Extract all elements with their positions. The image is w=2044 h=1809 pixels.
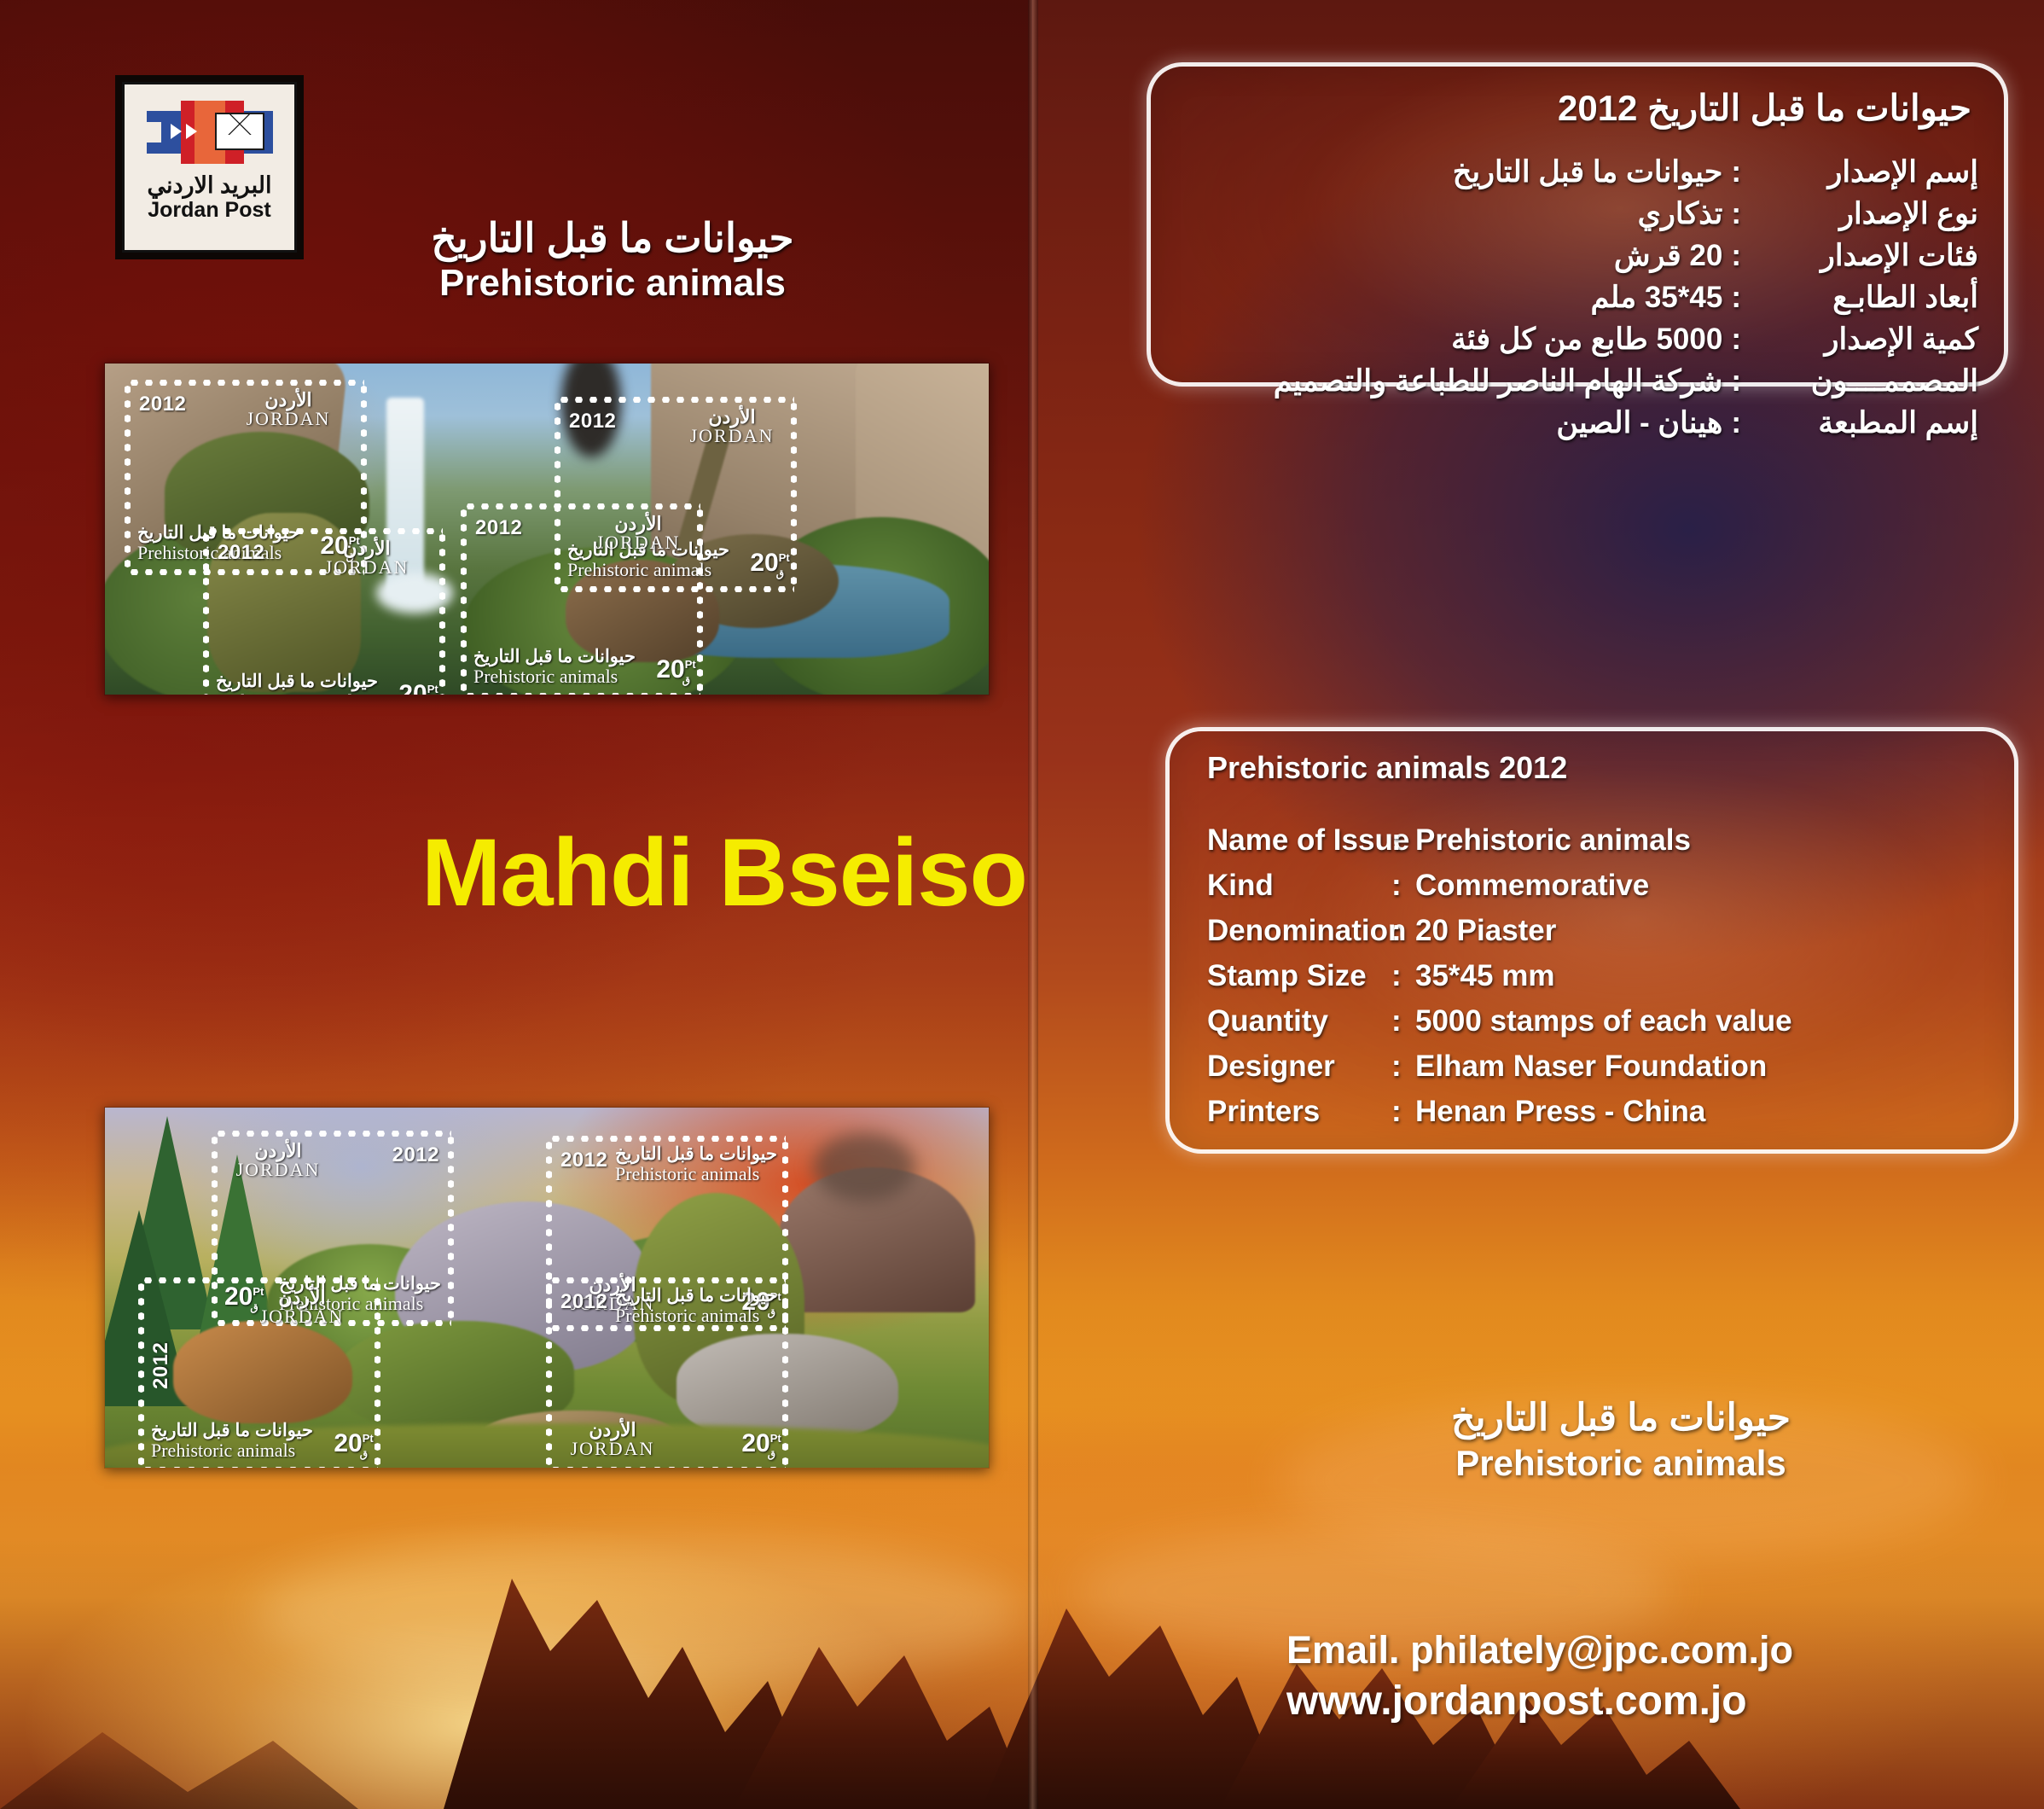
- stamp-caption-arabic: حيوانات ما قبل التاريخ: [216, 672, 378, 691]
- row-value: حيوانات ما قبل التاريخ: [1453, 155, 1723, 189]
- brochure-page: البريد الاردني Jordan Post حيوانات ما قب…: [0, 0, 2044, 1809]
- stamp-country-arabic: الأردن: [247, 1288, 357, 1307]
- info-row: أبعاد الطابـع : 45*35 ملم: [1274, 281, 1978, 315]
- stamp-year: 2012: [149, 1342, 173, 1389]
- row-value: 20 قرش: [1614, 239, 1722, 273]
- row-separator: :: [1391, 1050, 1415, 1084]
- row-value: تذكاري: [1638, 197, 1723, 231]
- stamp-caption: حيوانات ما قبل التاريخ Prehistoric anima…: [151, 1422, 313, 1460]
- denomination-unit-arabic: ق: [682, 674, 690, 686]
- arabic-info-panel: حيوانات ما قبل التاريخ 2012 إسم الإصدار …: [1147, 62, 2008, 387]
- row-value: هينان - الصين: [1556, 406, 1722, 440]
- row-key: Quantity: [1207, 1004, 1391, 1038]
- row-key: Name of Issue: [1207, 823, 1391, 858]
- stamp-year: 2012: [560, 1290, 607, 1314]
- stamp-country-arabic: الأردن: [233, 391, 344, 410]
- info-row: Kind : Commemorative: [1207, 869, 1792, 903]
- contact-info: Email. philately@jpc.com.jo www.jordanpo…: [1286, 1626, 1793, 1727]
- stamp-country-english: JORDAN: [247, 1307, 357, 1326]
- stamp-denomination: 20Ptق: [750, 549, 784, 579]
- row-key: كمية الإصدار: [1750, 323, 1978, 357]
- row-key: Printers: [1207, 1095, 1391, 1129]
- stamp-country: الأردن JORDAN: [311, 539, 422, 577]
- row-key: Stamp Size: [1207, 959, 1391, 993]
- denomination-unit: Pt: [363, 1432, 374, 1445]
- stamp-country: الأردن JORDAN: [233, 391, 344, 428]
- row-separator: :: [1391, 823, 1415, 858]
- stamp-year: 2012: [475, 516, 522, 540]
- row-separator: :: [1722, 197, 1750, 231]
- row-key: إسم المطبعة: [1750, 406, 1978, 440]
- stamp-caption-english: Prehistoric animals: [615, 1164, 777, 1184]
- stamp-caption-english: Prehistoric animals: [151, 1440, 313, 1460]
- denomination-unit-arabic: ق: [768, 1448, 775, 1460]
- row-key: Denomination: [1207, 914, 1391, 948]
- row-key: فئات الإصدار: [1750, 239, 1978, 273]
- page-title-arabic: حيوانات ما قبل التاريخ: [340, 216, 886, 261]
- english-panel-title: Prehistoric animals 2012: [1207, 750, 1567, 786]
- info-row: Denomination : 20 Piaster: [1207, 914, 1792, 948]
- row-value: شركة الهام الناصر للطباعة والتصميم: [1274, 364, 1723, 398]
- row-key: أبعاد الطابـع: [1750, 281, 1978, 315]
- stamp-country-arabic: الأردن: [676, 408, 787, 427]
- stamp-caption: حيوانات ما قبل التاريخ Prehistoric anima…: [473, 648, 636, 686]
- stamp-denomination: 20Ptق: [398, 680, 433, 695]
- stamp-denomination: 20Ptق: [656, 655, 690, 686]
- row-separator: :: [1722, 155, 1750, 189]
- stamp-caption-english: Prehistoric animals: [473, 666, 636, 686]
- row-separator: :: [1391, 1095, 1415, 1129]
- info-row: Printers : Henan Press - China: [1207, 1095, 1792, 1129]
- row-value: Commemorative: [1415, 869, 1649, 903]
- row-separator: :: [1722, 323, 1750, 357]
- row-key: المصممــــون: [1750, 364, 1978, 398]
- stamp-country-arabic: الأردن: [311, 539, 422, 558]
- page-title: حيوانات ما قبل التاريخ Prehistoric anima…: [340, 216, 886, 304]
- stamp-denomination: 20Ptق: [334, 1429, 368, 1460]
- page-title-english: Prehistoric animals: [340, 263, 886, 304]
- denomination-unit: Pt: [685, 658, 696, 671]
- info-row: المصممــــون : شركة الهام الناصر للطباعة…: [1274, 364, 1978, 398]
- row-separator: :: [1391, 869, 1415, 903]
- envelope-arrows-logo-icon: [142, 96, 278, 169]
- stamp-sheet-one[interactable]: 2012 الأردن JORDAN حيوانات ما قبل التاري…: [104, 363, 990, 695]
- row-value: Elham Naser Foundation: [1415, 1050, 1767, 1084]
- row-value: 35*45 mm: [1415, 959, 1554, 993]
- stamp-country-english: JORDAN: [311, 558, 422, 577]
- stamp-caption-arabic: حيوانات ما قبل التاريخ: [615, 1287, 777, 1306]
- denomination-value: 20: [656, 655, 684, 683]
- stamp-country-english: JORDAN: [233, 410, 344, 428]
- info-row: إسم المطبعة : هينان - الصين: [1274, 406, 1978, 440]
- stamp-triceratops-river[interactable]: 2012 الأردن JORDAN حيوانات ما قبل التاري…: [463, 506, 700, 695]
- footer-title-arabic: حيوانات ما قبل التاريخ: [1297, 1396, 1945, 1440]
- denomination-unit-arabic: ق: [360, 1448, 368, 1460]
- logo-english-label: Jordan Post: [148, 198, 270, 223]
- stamp-caption-english: Prehistoric animals: [216, 691, 378, 695]
- stamp-country-arabic: الأردن: [583, 515, 694, 533]
- row-separator: :: [1722, 239, 1750, 273]
- row-key: Designer: [1207, 1050, 1391, 1084]
- stamp-country: الأردن JORDAN: [557, 1421, 668, 1458]
- email-address[interactable]: Email. philately@jpc.com.jo: [1286, 1626, 1793, 1675]
- info-row: Name of Issue : Prehistoric animals: [1207, 823, 1792, 858]
- stamp-year: 2012: [569, 410, 616, 433]
- info-row: إسم الإصدار : حيوانات ما قبل التاريخ: [1274, 155, 1978, 189]
- stamp-country-arabic: الأردن: [223, 1142, 334, 1160]
- arabic-panel-title: حيوانات ما قبل التاريخ 2012: [1558, 87, 1971, 129]
- row-value: Henan Press - China: [1415, 1095, 1705, 1129]
- booklet-fold-crease: [1028, 0, 1038, 1809]
- stamp-country-english: JORDAN: [223, 1160, 334, 1179]
- info-row: نوع الإصدار : تذكاري: [1274, 197, 1978, 231]
- stamp-caption-arabic: حيوانات ما قبل التاريخ: [473, 648, 636, 666]
- stamp-country-english: JORDAN: [676, 427, 787, 445]
- stamp-denomination: 20Ptق: [741, 1429, 775, 1460]
- row-separator: :: [1391, 959, 1415, 993]
- stamp-caption-arabic: حيوانات ما قبل التاريخ: [151, 1422, 313, 1440]
- english-info-rows: Name of Issue : Prehistoric animals Kind…: [1207, 823, 1792, 1140]
- stamp-country-arabic: الأردن: [557, 1421, 668, 1440]
- cloud-band: [256, 1536, 1024, 1690]
- stamp-year: 2012: [218, 541, 264, 565]
- row-separator: :: [1722, 364, 1750, 398]
- stamp-country-english: JORDAN: [583, 533, 694, 552]
- footer-title-english: Prehistoric animals: [1297, 1443, 1945, 1484]
- stamp-country: الأردن JORDAN: [583, 515, 694, 552]
- denomination-unit: Pt: [770, 1432, 781, 1445]
- row-value: 45*35 ملم: [1590, 281, 1722, 315]
- denomination-value: 20: [750, 549, 778, 577]
- logo-arabic-label: البريد الاردني: [148, 172, 272, 199]
- stamp-sheet-two[interactable]: 2012 الأردن JORDAN حيوانات ما قبل التاري…: [104, 1107, 990, 1469]
- stamp-country: الأردن JORDAN: [247, 1288, 357, 1326]
- row-separator: :: [1722, 406, 1750, 440]
- stamp-country: الأردن JORDAN: [676, 408, 787, 445]
- english-info-panel: Prehistoric animals 2012 Name of Issue :…: [1165, 727, 2018, 1154]
- row-value: Prehistoric animals: [1415, 823, 1691, 858]
- watermark-text: Mahdi Bseiso: [421, 817, 1027, 928]
- jordan-post-logo[interactable]: البريد الاردني Jordan Post: [122, 82, 297, 253]
- row-value: 5000 طابع من كل فئة: [1451, 323, 1722, 357]
- stamp-caption-english: Prehistoric animals: [615, 1306, 777, 1325]
- stamp-year: 2012: [392, 1143, 439, 1167]
- stamp-year: 2012: [560, 1149, 607, 1172]
- info-row: Quantity : 5000 stamps of each value: [1207, 1004, 1792, 1038]
- row-separator: :: [1722, 281, 1750, 315]
- row-value: 20 Piaster: [1415, 914, 1556, 948]
- stamp-caption: حيوانات ما قبل التاريخ Prehistoric anima…: [615, 1145, 777, 1184]
- stamp-raptor-riverbank[interactable]: 2012 الأردن JORDAN حيوانات ما قبل التاري…: [206, 531, 443, 695]
- denomination-value: 20: [741, 1429, 769, 1457]
- denomination-unit: Pt: [427, 683, 438, 695]
- stamp-rhinoceros-brontothere[interactable]: 2012 حيوانات ما قبل التاريخ Prehistoric …: [549, 1280, 786, 1469]
- row-key: إسم الإصدار: [1750, 155, 1978, 189]
- row-key: نوع الإصدار: [1750, 197, 1978, 231]
- row-separator: :: [1391, 914, 1415, 948]
- info-row: Designer : Elham Naser Foundation: [1207, 1050, 1792, 1084]
- info-row: كمية الإصدار : 5000 طابع من كل فئة: [1274, 323, 1978, 357]
- row-value: 5000 stamps of each value: [1415, 1004, 1792, 1038]
- denomination-value: 20: [398, 680, 427, 695]
- stamp-caption: حيوانات ما قبل التاريخ Prehistoric anima…: [216, 672, 378, 695]
- stamp-caption: حيوانات ما قبل التاريخ Prehistoric anima…: [615, 1287, 777, 1325]
- info-row: Stamp Size : 35*45 mm: [1207, 959, 1792, 993]
- arabic-info-rows: إسم الإصدار : حيوانات ما قبل التاريخ نوع…: [1274, 155, 1978, 448]
- denomination-unit-arabic: ق: [776, 567, 784, 579]
- denomination-unit: Pt: [779, 551, 790, 564]
- row-separator: :: [1391, 1004, 1415, 1038]
- footer-title: حيوانات ما قبل التاريخ Prehistoric anima…: [1297, 1396, 1945, 1484]
- stamp-stegosaurus-ankylosaur[interactable]: 2012 الأردن JORDAN حيوانات ما قبل التاري…: [141, 1280, 378, 1469]
- row-key: Kind: [1207, 869, 1391, 903]
- stamp-country-english: JORDAN: [557, 1440, 668, 1458]
- stamp-country: الأردن JORDAN: [223, 1142, 334, 1179]
- stamp-year: 2012: [139, 393, 186, 416]
- info-row: فئات الإصدار : 20 قرش: [1274, 239, 1978, 273]
- denomination-value: 20: [334, 1429, 362, 1457]
- stamp-caption-arabic: حيوانات ما قبل التاريخ: [615, 1145, 777, 1164]
- website-url[interactable]: www.jordanpost.com.jo: [1286, 1675, 1793, 1727]
